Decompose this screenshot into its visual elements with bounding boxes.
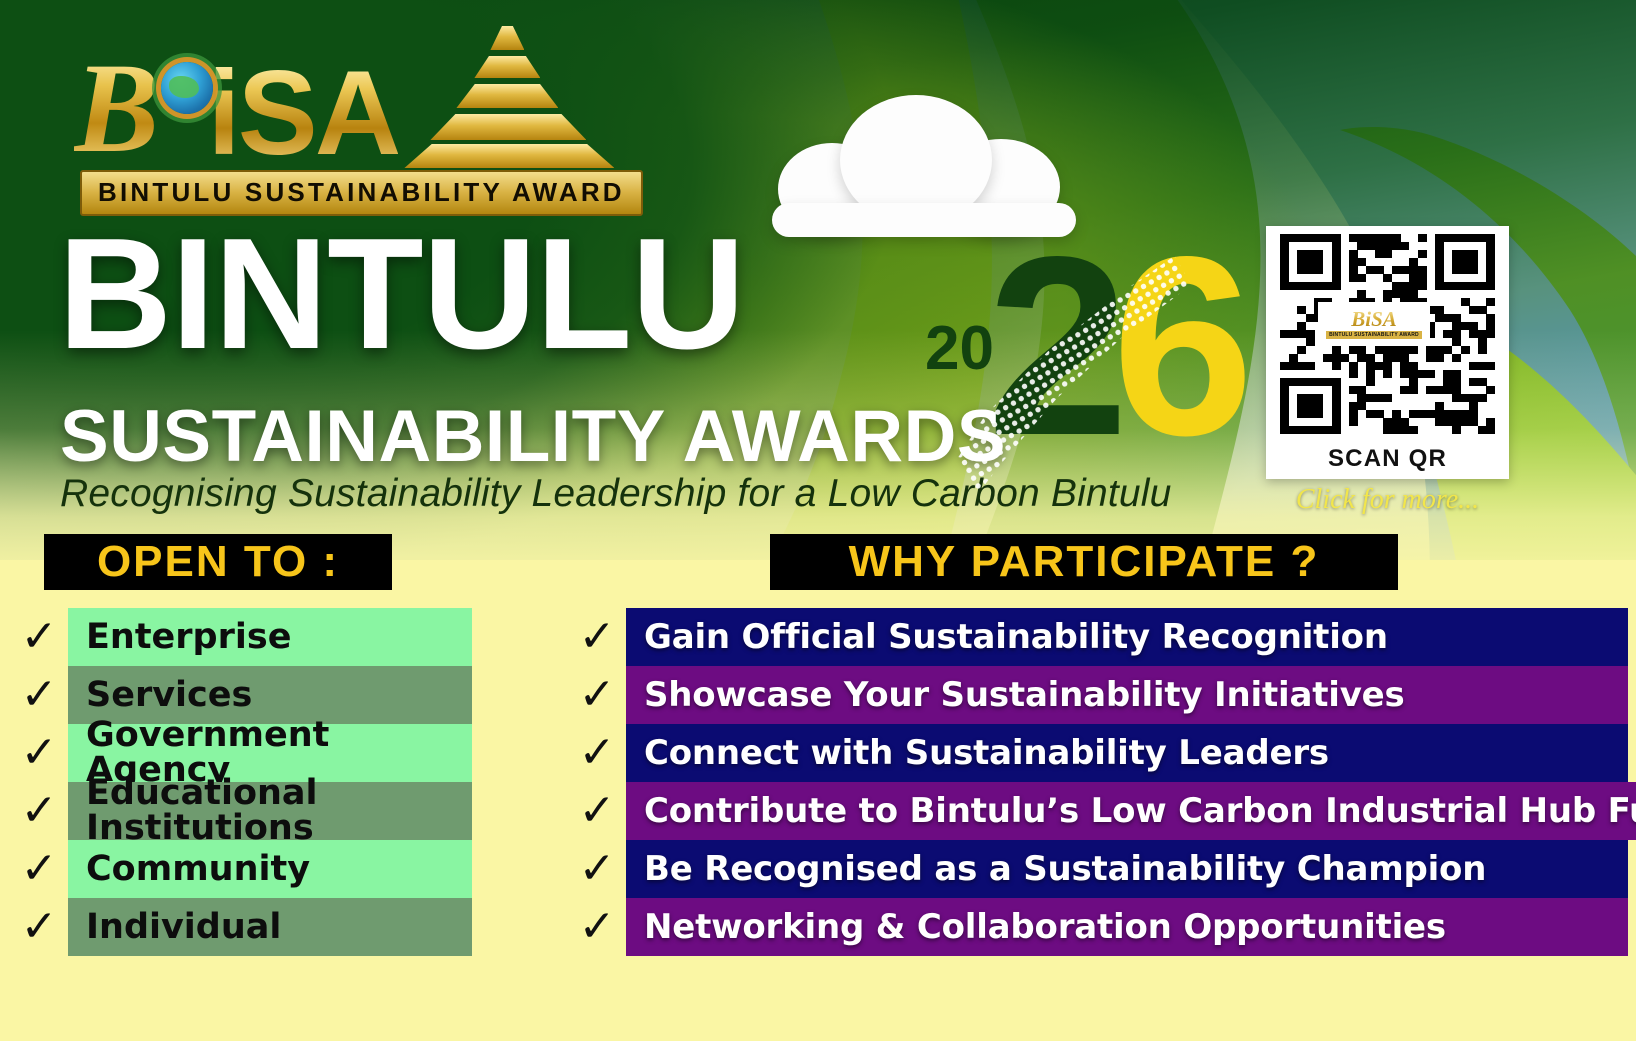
check-icon: ✓ [10,615,68,659]
year-digit-two: 2 [987,248,1129,447]
list-item-label: Community [68,840,472,898]
qr-embedded-logo: BiSA BINTULU SUSTAINABILITY AWARD [1318,302,1430,346]
list-item: ✓Individual [10,898,472,956]
list-item-label: Networking & Collaboration Opportunities [626,898,1628,956]
open-to-list: ✓Enterprise✓Services✓Government Agency✓E… [10,608,472,956]
check-icon: ✓ [568,789,626,833]
list-item: ✓Showcase Your Sustainability Initiative… [568,666,1628,724]
globe-icon [161,62,213,114]
logo-letters-isa: iSA [207,58,398,168]
pagoda-tower-icon [404,18,614,168]
list-item-label: Contribute to Bintulu’s Low Carbon Indus… [626,782,1636,840]
list-item: ✓Gain Official Sustainability Recognitio… [568,608,1628,666]
list-item: ✓Networking & Collaboration Opportunitie… [568,898,1628,956]
why-participate-list: ✓Gain Official Sustainability Recognitio… [568,608,1628,956]
year-prefix: 20 [925,318,994,380]
qr-click-hint[interactable]: Click for more... [1266,484,1509,516]
list-item-label: Be Recognised as a Sustainability Champi… [626,840,1628,898]
logo-name-text: BINTULU SUSTAINABILITY AWARD [98,177,625,208]
list-item: ✓Connect with Sustainability Leaders [568,724,1628,782]
open-to-header: OPEN TO : [44,534,392,590]
qr-logo-bar: BINTULU SUSTAINABILITY AWARD [1326,331,1422,339]
check-icon: ✓ [10,731,68,775]
check-icon: ✓ [568,731,626,775]
page-title: BINTULU [58,222,744,367]
list-item: ✓Enterprise [10,608,472,666]
bisa-logo-mark: B iSA [68,18,678,168]
check-icon: ✓ [10,905,68,949]
list-item-label: Individual [68,898,472,956]
open-to-header-label: OPEN TO : [97,540,339,584]
list-item: ✓Contribute to Bintulu’s Low Carbon Indu… [568,782,1628,840]
list-item-label: Educational Institutions [68,782,472,840]
list-item-label: Showcase Your Sustainability Initiatives [626,666,1628,724]
qr-code-card[interactable]: BiSA BINTULU SUSTAINABILITY AWARD SCAN Q… [1266,226,1509,479]
qr-caption: SCAN QR [1266,445,1509,473]
logo-letter-b: B [74,50,159,168]
check-icon: ✓ [10,789,68,833]
qr-logo-mark: BiSA [1351,309,1397,330]
year-digit-six: 6 [1112,248,1254,447]
check-icon: ✓ [10,673,68,717]
list-item: ✓Be Recognised as a Sustainability Champ… [568,840,1628,898]
check-icon: ✓ [568,905,626,949]
why-participate-header-label: WHY PARTICIPATE ? [849,540,1320,584]
why-participate-header: WHY PARTICIPATE ? [770,534,1398,590]
check-icon: ✓ [10,847,68,891]
page-subtitle: SUSTAINABILITY AWARDS [60,400,1006,473]
bisa-logo[interactable]: B iSA BINTULU SUSTAINABILITY AWARD [68,18,678,213]
check-icon: ✓ [568,615,626,659]
check-icon: ✓ [568,847,626,891]
check-icon: ✓ [568,673,626,717]
list-item: ✓Educational Institutions [10,782,472,840]
list-item: ✓Community [10,840,472,898]
list-item-label: Gain Official Sustainability Recognition [626,608,1628,666]
poster-root: B iSA BINTULU SUSTAINABILITY AWARD BINTU… [0,0,1636,1041]
list-item-label: Connect with Sustainability Leaders [626,724,1628,782]
list-item-label: Enterprise [68,608,472,666]
year-graphic: 6 2 20 [915,230,1215,495]
